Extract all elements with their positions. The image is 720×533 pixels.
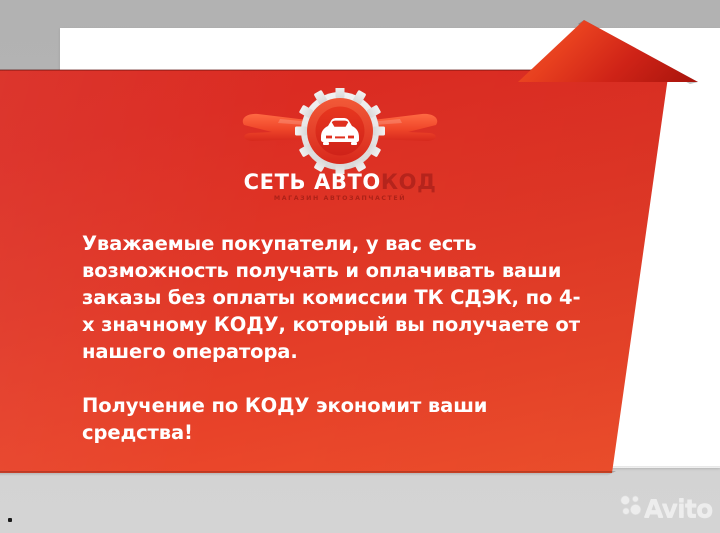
announcement-paragraph-1: Уважаемые покупатели, у вас есть возможн… (82, 230, 592, 365)
emblem-gear-car-wings-icon (228, 88, 452, 174)
red-banner-top-edge (0, 69, 600, 71)
announcement-text: Уважаемые покупатели, у вас есть возможн… (82, 230, 592, 446)
avito-label: Avito (644, 496, 712, 521)
red-banner-bottom-shadow (0, 471, 616, 476)
avito-watermark: Avito (620, 492, 716, 524)
brand-logo: СЕТЬ АВТОКОД МАГАЗИН АВТОЗАПЧАСТЕЙ (228, 88, 452, 212)
avito-dots-icon (620, 494, 642, 522)
screenshot-canvas: СЕТЬ АВТОКОД МАГАЗИН АВТОЗАПЧАСТЕЙ Уважа… (0, 0, 720, 533)
image-artifact-dot (8, 518, 12, 522)
announcement-paragraph-2: Получение по КОДУ экономит ваши средства… (82, 392, 592, 446)
brand-name-primary: СЕТЬ АВТО (244, 170, 381, 194)
brand-tagline: МАГАЗИН АВТОЗАПЧАСТЕЙ (228, 195, 452, 202)
brand-name-accent: КОД (381, 170, 437, 194)
brand-name: СЕТЬ АВТОКОД (228, 172, 452, 193)
